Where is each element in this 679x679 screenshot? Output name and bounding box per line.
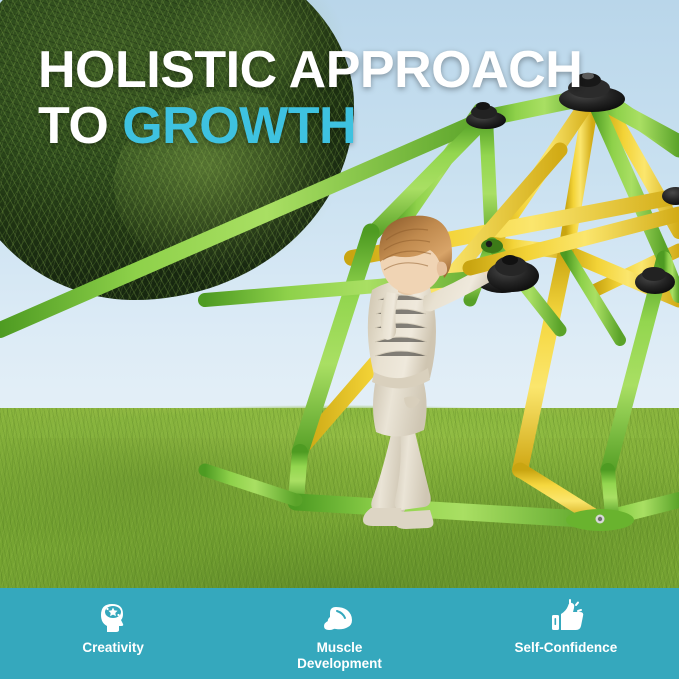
feature-creativity: Creativity (0, 588, 226, 656)
product-lifestyle-image: HOLISTIC APPROACH TO GROWTH Creativity (0, 0, 679, 679)
headline: HOLISTIC APPROACH TO GROWTH (38, 46, 638, 152)
feature-label-self-confidence: Self-Confidence (514, 640, 617, 656)
feature-label-creativity: Creativity (82, 640, 144, 656)
feature-self-confidence: Self-Confidence (453, 588, 679, 656)
head-brain-icon (93, 597, 133, 637)
feature-muscle-development: Muscle Development (226, 588, 452, 671)
headline-line-2-prefix: TO (38, 97, 122, 155)
feature-banner: Creativity Muscle Development (0, 588, 679, 679)
headline-line-1: HOLISTIC APPROACH (38, 46, 638, 96)
headline-line-2: TO GROWTH (38, 102, 638, 152)
thumbs-up-icon (546, 597, 586, 637)
flexed-bicep-icon (319, 597, 359, 637)
dome-bars-main (0, 96, 679, 520)
ground-connector-plate (566, 509, 634, 531)
headline-accent-word: GROWTH (122, 97, 356, 155)
feature-label-muscle-development: Muscle Development (297, 640, 382, 671)
